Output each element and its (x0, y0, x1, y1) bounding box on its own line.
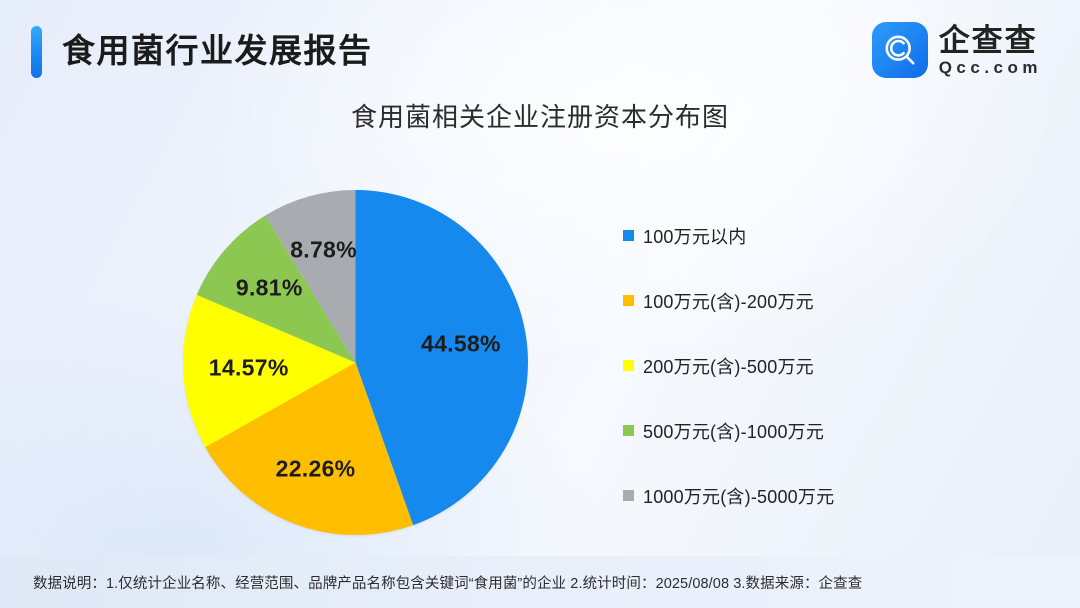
legend-swatch-icon (623, 490, 634, 501)
footer: 数据说明：1.仅统计企业名称、经营范围、品牌产品名称包含关键词“食用菌”的企业 … (0, 556, 1080, 608)
legend-swatch-icon (623, 295, 634, 306)
legend-swatch-icon (623, 230, 634, 241)
brand-domain: Qcc.com (939, 58, 1042, 77)
legend-label: 1000万元(含)-5000万元 (643, 483, 834, 509)
pie-chart: 44.58%22.26%14.57%9.81%8.78% (183, 190, 528, 535)
legend-label: 100万元以内 (643, 223, 746, 249)
pie-slice-label: 9.81% (236, 275, 303, 302)
pie-slice-label: 22.26% (276, 456, 356, 483)
qcc-magnifier-icon (872, 22, 928, 78)
chart-title: 食用菌相关企业注册资本分布图 (0, 100, 1080, 134)
legend-label: 500万元(含)-1000万元 (643, 418, 824, 444)
legend-item[interactable]: 200万元(含)-500万元 (623, 333, 1003, 398)
brand-name: 企查查 (939, 24, 1042, 57)
legend-label: 100万元(含)-200万元 (643, 288, 814, 314)
legend-label: 200万元(含)-500万元 (643, 353, 814, 379)
page-title: 食用菌行业发展报告 (62, 25, 373, 77)
footer-note: 数据说明：1.仅统计企业名称、经营范围、品牌产品名称包含关键词“食用菌”的企业 … (0, 572, 862, 593)
title-accent-bar (31, 26, 42, 78)
legend-item[interactable]: 100万元以内 (623, 203, 1003, 268)
legend-swatch-icon (623, 360, 634, 371)
report-slide: 食用菌行业发展报告 企查查 Qcc.com 食用菌相关企业注册资本分布图 (0, 0, 1080, 608)
pie-slice-label: 44.58% (421, 331, 501, 358)
legend-item[interactable]: 1000万元(含)-5000万元 (623, 463, 1003, 528)
brand-text: 企查查 Qcc.com (939, 24, 1042, 77)
legend-item[interactable]: 100万元(含)-200万元 (623, 268, 1003, 333)
legend-swatch-icon (623, 425, 634, 436)
brand-logo[interactable]: 企查查 Qcc.com (872, 22, 1042, 78)
legend-item[interactable]: 500万元(含)-1000万元 (623, 398, 1003, 463)
header: 食用菌行业发展报告 企查查 Qcc.com (0, 0, 1080, 100)
pie-slice-label: 14.57% (209, 355, 289, 382)
chart-legend: 100万元以内100万元(含)-200万元200万元(含)-500万元500万元… (623, 203, 1003, 528)
pie-slice-label: 8.78% (290, 236, 357, 263)
